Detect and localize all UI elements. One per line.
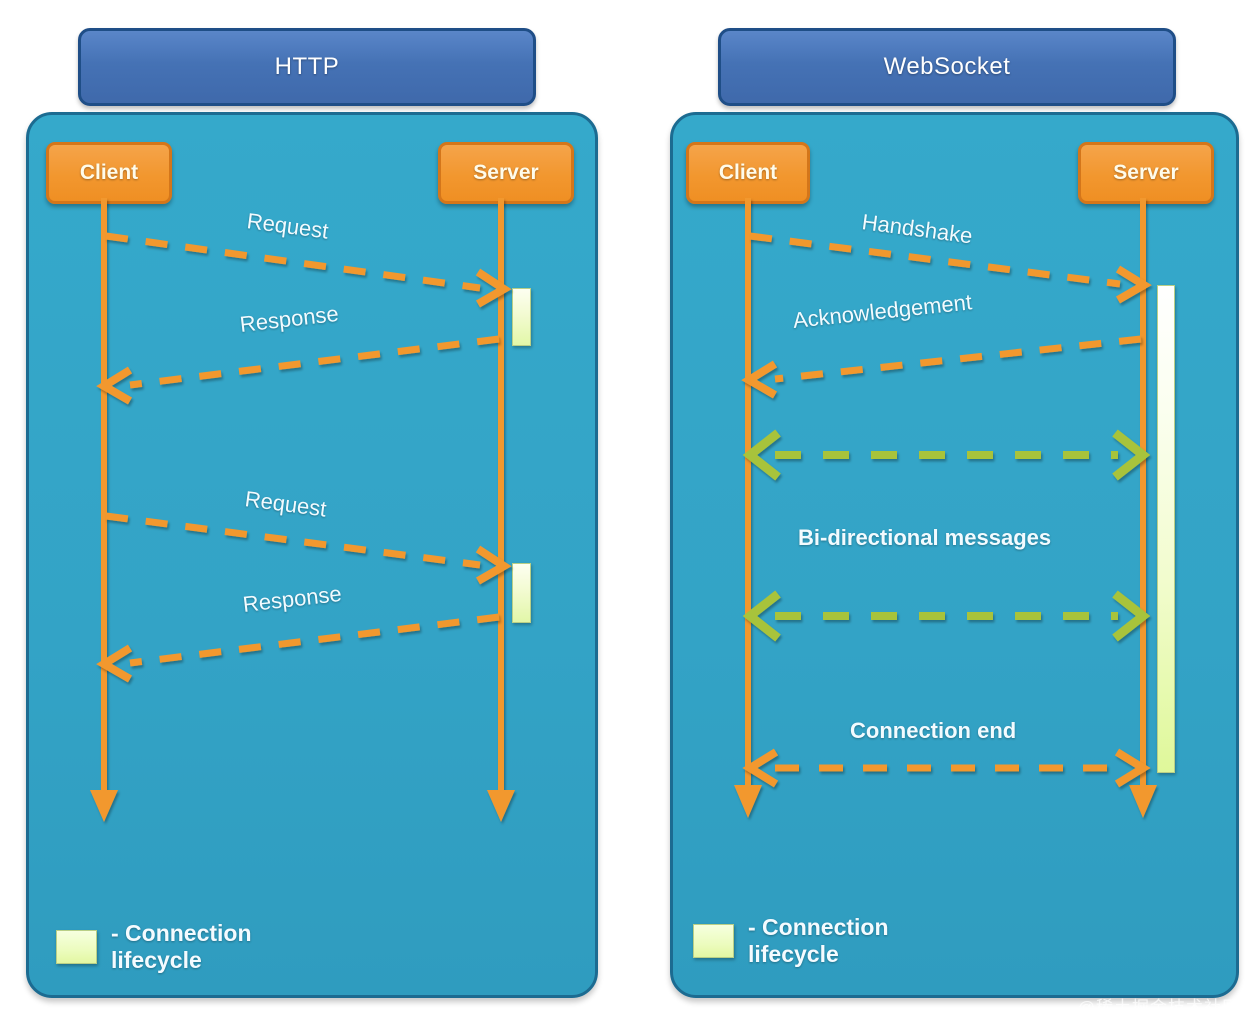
actor-server-http: Server <box>438 142 574 204</box>
legend-label-lifecycle: - Connection lifecycle <box>111 920 261 974</box>
legend-http: - Connection lifecycle <box>56 920 260 974</box>
actor-client-websocket: Client <box>686 142 810 204</box>
diagram-canvas: HTTP Client Server <box>0 0 1256 1022</box>
watermark: @稀土掘金技术社区 <box>1078 993 1240 1018</box>
legend-swatch-lifecycle <box>56 930 97 964</box>
activation-bar <box>512 288 531 346</box>
message-label-bidirectional: Bi-directional messages <box>798 525 1051 551</box>
activation-bar <box>512 563 531 623</box>
activation-bar <box>1157 285 1175 773</box>
panel-title-websocket: WebSocket <box>718 28 1176 106</box>
actor-server-websocket: Server <box>1078 142 1214 204</box>
actor-client-http: Client <box>46 142 172 204</box>
legend-label-lifecycle: - Connection lifecycle <box>748 914 898 968</box>
panel-body-http <box>26 112 598 998</box>
legend-websocket: - Connection lifecycle <box>693 914 897 968</box>
legend-swatch-lifecycle <box>693 924 734 958</box>
panel-title-http: HTTP <box>78 28 536 106</box>
message-label-connection-end: Connection end <box>850 718 1016 744</box>
